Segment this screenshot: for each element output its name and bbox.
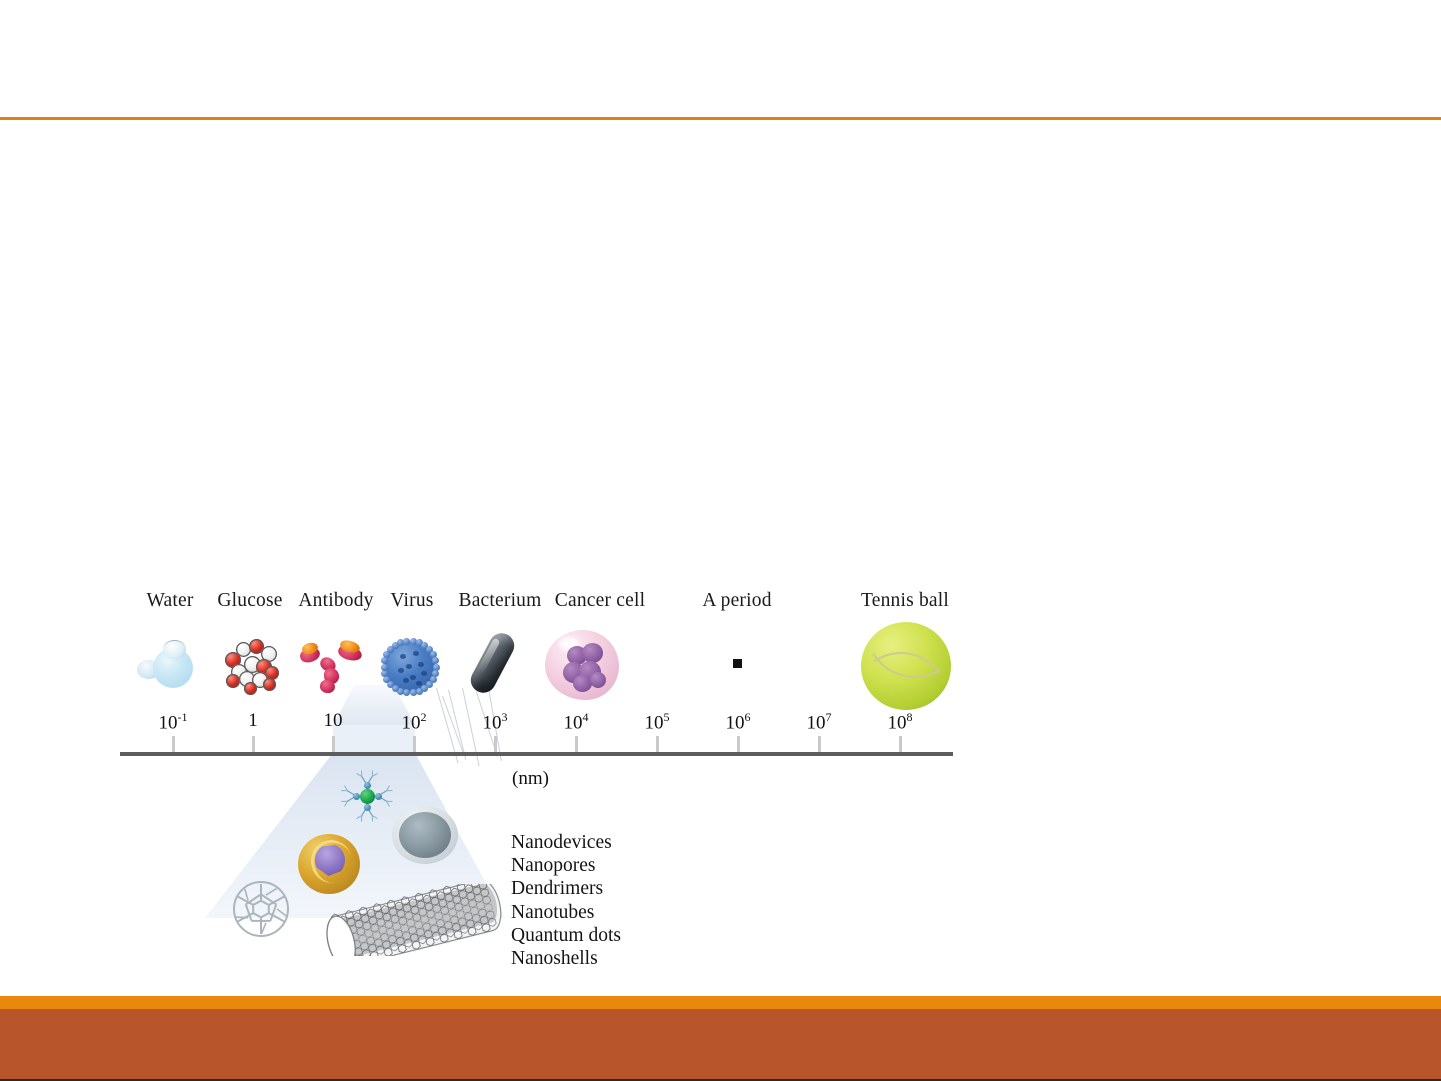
virus-pit [398,668,404,673]
nanoscale-size-comparison-figure: Water Glucose Antibody Virus Bacterium C… [0,0,1441,1081]
object-label-cancer-cell: Cancer cell [555,590,645,612]
virus-spike [403,689,410,696]
axis-tick-label: 108 [888,710,913,734]
cancer-cell-nucleus-lobe [582,643,603,663]
period-square-icon [733,659,742,668]
footer-accent-band [0,996,1441,1009]
nano-technology-list: Nanodevices Nanopores Dendrimers Nanotub… [511,831,621,970]
axis-tick-label: 107 [807,710,832,734]
nano-list-item: Dendrimers [511,877,621,900]
axis-tick-label: 10 [324,710,343,732]
virus-icon [380,638,440,696]
axis-tick [413,736,416,752]
object-label-bacterium: Bacterium [458,590,541,612]
object-label-virus: Virus [390,590,433,612]
nano-list-item: Nanoshells [511,947,621,970]
carbon-nanotube-icon [316,884,506,956]
fullerene-wireframe [230,880,292,938]
virus-spike [381,670,388,677]
virus-pit [413,651,419,656]
nanotube-mesh [316,884,506,956]
dendrimer-node [375,793,382,800]
nano-list-item: Nanodevices [511,831,621,854]
slide-canvas: Water Glucose Antibody Virus Bacterium C… [0,0,1441,1081]
virus-spike [410,689,417,696]
virus-pit [410,675,416,680]
size-axis-line [120,752,953,756]
bacterium-icon [468,625,538,705]
axis-tick-label: 1 [248,710,258,732]
nano-list-item: Quantum dots [511,924,621,947]
virus-pit [400,654,406,659]
virus-pit [421,671,427,676]
cancer-cell-nucleus-lobe [590,672,606,688]
virus-spike [416,688,423,695]
axis-unit-label: (nm) [512,768,549,790]
axis-tick-label: 103 [483,710,508,734]
fullerene-icon [230,880,292,938]
object-label-antibody: Antibody [298,590,373,612]
nano-list-item: Nanopores [511,854,621,877]
axis-tick [818,736,821,752]
nanoshell-icon [392,806,458,864]
virus-pit [418,662,424,667]
virus-pit [416,681,422,686]
axis-tick [656,736,659,752]
glucose-atom [244,682,257,695]
glucose-atom [263,678,276,691]
axis-tick [332,736,335,752]
axis-tick [494,736,497,752]
water-molecule-icon [137,640,199,690]
axis-tick-label: 105 [645,710,670,734]
axis-tick-label: 106 [726,710,751,734]
axis-tick [575,736,578,752]
virus-pit [406,664,412,669]
dendrimer-node [353,793,360,800]
dendrimer-node [364,782,371,789]
glucose-molecule-icon [223,638,279,692]
axis-tick [172,736,175,752]
axis-tick [899,736,902,752]
nano-list-item: Nanotubes [511,901,621,924]
tennis-ball-icon [861,622,951,710]
cancer-cell-icon [545,630,619,702]
antibody-icon [300,640,370,696]
dendrimer-node [364,804,371,811]
object-label-water: Water [146,590,193,612]
glucose-atom [226,674,240,688]
dendrimer-icon [338,768,396,824]
axis-tick [252,736,255,752]
virus-spike [381,664,388,671]
axis-tick [737,736,740,752]
object-label-glucose: Glucose [217,590,282,612]
footer-band [0,1009,1441,1079]
axis-tick-label: 102 [402,710,427,734]
object-label-a-period: A period [702,590,771,612]
axis-tick-label: 104 [564,710,589,734]
virus-pit [403,678,409,683]
virus-spike [432,657,439,664]
axis-tick-label: 10-1 [159,710,188,734]
